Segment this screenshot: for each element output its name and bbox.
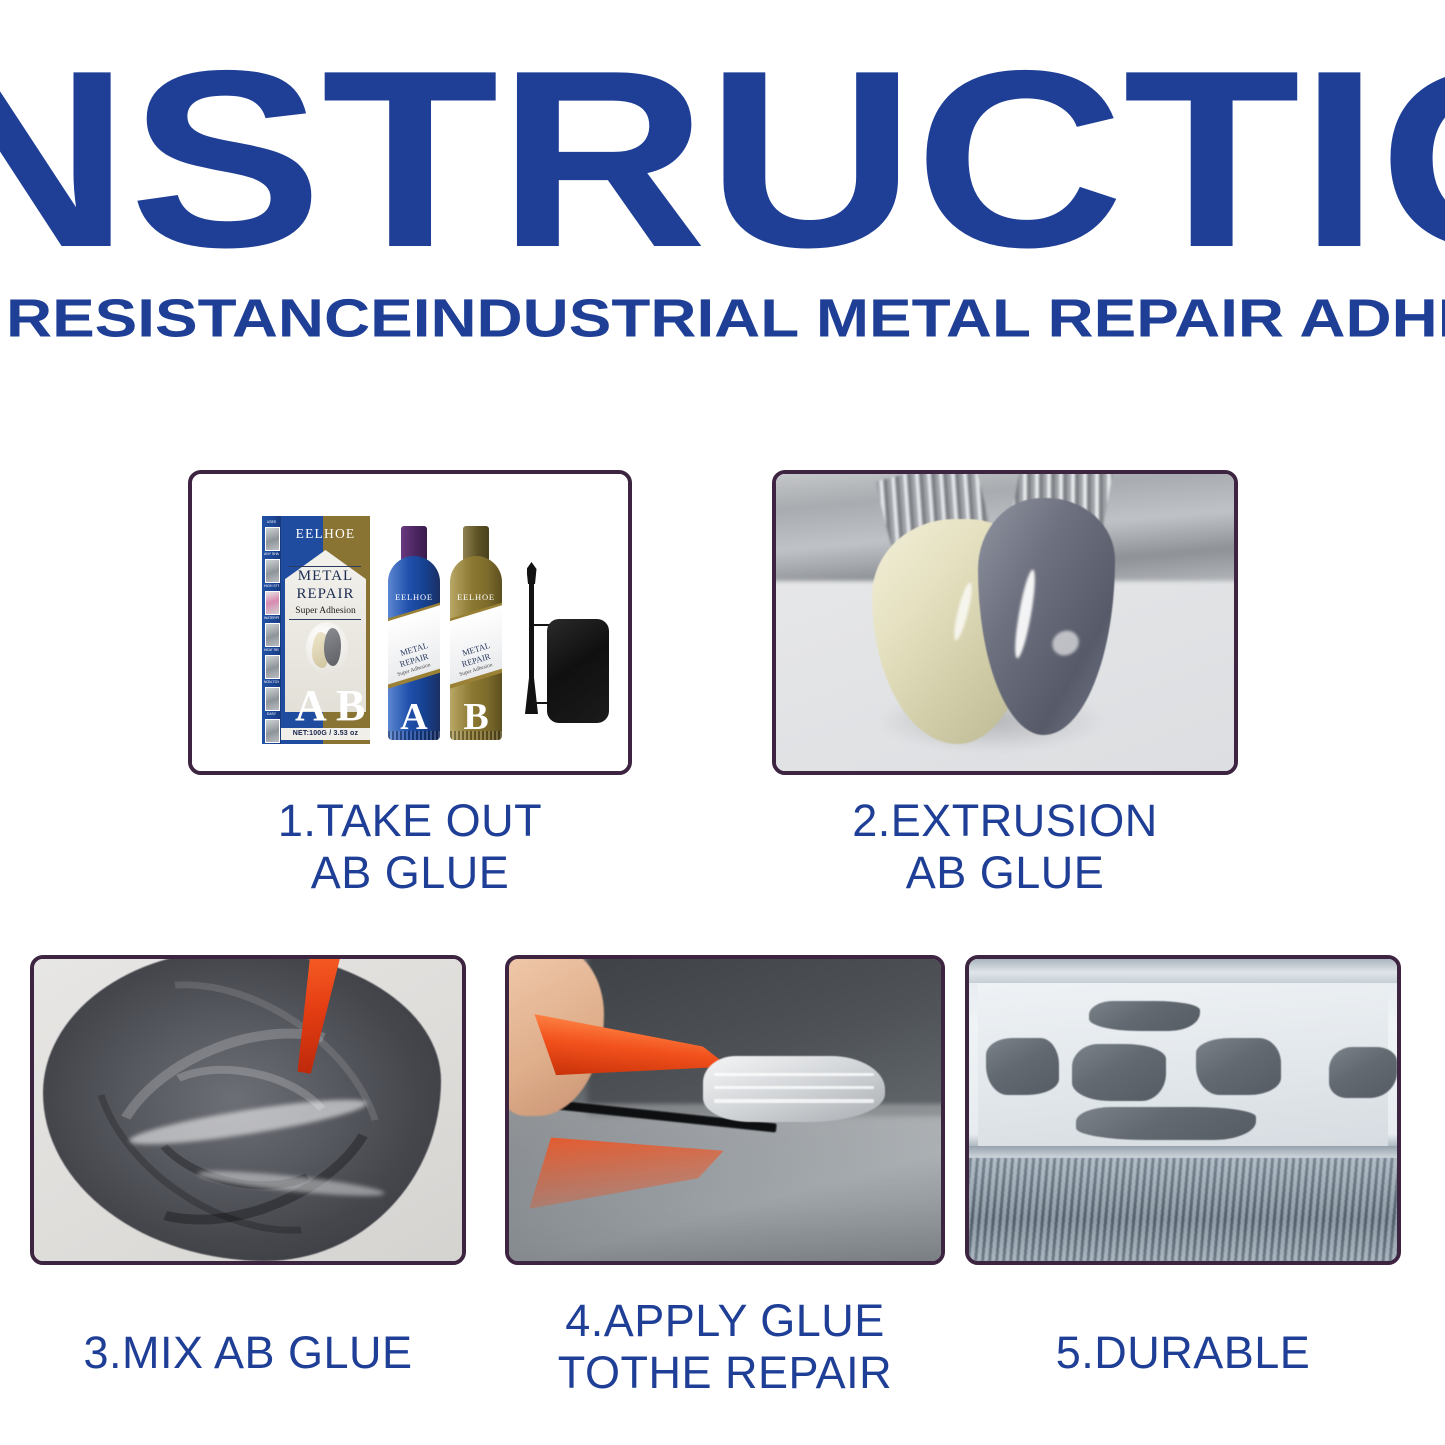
spine-caption: HEAT RESISTANCE xyxy=(264,647,279,654)
spine-thumbnail-icon xyxy=(265,527,280,551)
box-brand-label: EELHOE xyxy=(281,526,370,542)
step-4-caption: 4.APPLY GLUE TOTHE REPAIR xyxy=(505,1295,945,1399)
box-spine: USES ANY SHAPE REPAIR HIGH STRENGTH WATE… xyxy=(262,516,281,744)
box-product-line1: METAL xyxy=(284,568,367,585)
page-subtitle: HEAT RESISTANCEINDUSTRIAL METAL REPAIR A… xyxy=(0,287,1445,352)
tube-a: EELHOE METAL REPAIR Super Adhesion A xyxy=(388,526,440,740)
bead-b-highlight xyxy=(1011,569,1039,660)
spine-caption: ANY SHAPE REPAIR xyxy=(264,551,279,558)
glue-bead-b-illustration xyxy=(324,628,341,666)
step-1-photo-frame: USES ANY SHAPE REPAIR HIGH STRENGTH WATE… xyxy=(188,470,632,775)
box-net-weight: NET:100G / 3.53 oz xyxy=(281,728,370,740)
durable-result-photo xyxy=(969,959,1397,1261)
spine-caption: USES xyxy=(264,519,279,526)
header: INSTRUCTIONS HEAT RESISTANCEINDUSTRIAL M… xyxy=(0,0,1445,400)
product-box: USES ANY SHAPE REPAIR HIGH STRENGTH WATE… xyxy=(262,516,370,744)
box-rule xyxy=(289,566,361,567)
spine-caption: NON-TOXIC xyxy=(264,679,279,686)
spine-thumbnail-icon xyxy=(265,687,280,711)
tube-b-body: EELHOE METAL REPAIR Super Adhesion B xyxy=(450,556,502,740)
glue-patch xyxy=(1196,1038,1282,1095)
spine-thumbnail-icon xyxy=(265,623,280,647)
step-2-photo-frame xyxy=(772,470,1238,775)
glue-patch xyxy=(986,1038,1059,1095)
step-1-caption: 1.TAKE OUT AB GLUE xyxy=(188,795,632,899)
spine-caption: HIGH STRENGTH xyxy=(264,583,279,590)
applicator-stick xyxy=(525,562,538,714)
smear-stroke xyxy=(714,1073,874,1076)
glue-patch xyxy=(1076,1107,1256,1140)
tube-a-body: EELHOE METAL REPAIR Super Adhesion A xyxy=(388,556,440,740)
box-part-b-letter: B xyxy=(336,684,365,728)
stick-tip-bottom xyxy=(525,674,538,714)
spine-thumbnail-icon xyxy=(265,655,280,679)
tray-top-edge xyxy=(969,959,1397,983)
extrusion-photo xyxy=(776,474,1234,771)
step-4-photo-frame xyxy=(505,955,945,1265)
page-title: INSTRUCTIONS xyxy=(0,34,1445,286)
box-hero-image xyxy=(306,622,348,674)
spine-thumbnail-icon xyxy=(265,591,280,615)
apply-glue-photo xyxy=(509,959,941,1261)
mixing-photo xyxy=(34,959,462,1261)
box-tagline: Super Adhesion xyxy=(284,606,367,616)
box-rule xyxy=(289,619,361,620)
glue-patch xyxy=(1089,1001,1200,1031)
glue-patch xyxy=(1072,1044,1166,1101)
tube-b: EELHOE METAL REPAIR Super Adhesion B xyxy=(450,526,502,740)
tube-a-crimp xyxy=(388,731,440,740)
tray-side-wall xyxy=(969,1158,1397,1261)
step-5-caption: 5.DURABLE xyxy=(965,1327,1401,1379)
step-3-photo-frame xyxy=(30,955,466,1265)
tube-a-brand: EELHOE xyxy=(388,592,440,602)
tube-a-cap xyxy=(401,526,427,560)
smear-stroke xyxy=(714,1086,874,1089)
tube-b-crimp xyxy=(450,731,502,740)
step-3-caption: 3.MIX AB GLUE xyxy=(30,1327,466,1379)
tube-b-brand: EELHOE xyxy=(450,592,502,602)
spine-caption: WATERPROOF xyxy=(264,615,279,622)
glue-patch xyxy=(1329,1047,1397,1098)
tube-b-cap xyxy=(463,526,489,560)
bead-b-highlight xyxy=(1048,626,1083,660)
applied-glue-smear xyxy=(703,1056,884,1122)
smear-stroke xyxy=(714,1099,874,1102)
spine-thumbnail-icon xyxy=(265,559,280,583)
spine-caption: EASY xyxy=(264,711,279,718)
product-kit-photo: USES ANY SHAPE REPAIR HIGH STRENGTH WATE… xyxy=(192,474,628,771)
box-product-line2: REPAIR xyxy=(284,586,367,603)
tray-lower-edge xyxy=(969,1146,1397,1158)
step-2-caption: 2.EXTRUSION AB GLUE xyxy=(772,795,1238,899)
mixing-plate xyxy=(547,619,609,723)
box-part-a-letter: A xyxy=(295,684,327,728)
step-5-photo-frame xyxy=(965,955,1401,1265)
spine-thumbnail-icon xyxy=(265,719,280,743)
bead-a-highlight xyxy=(951,581,975,640)
stick-shaft xyxy=(529,578,534,680)
